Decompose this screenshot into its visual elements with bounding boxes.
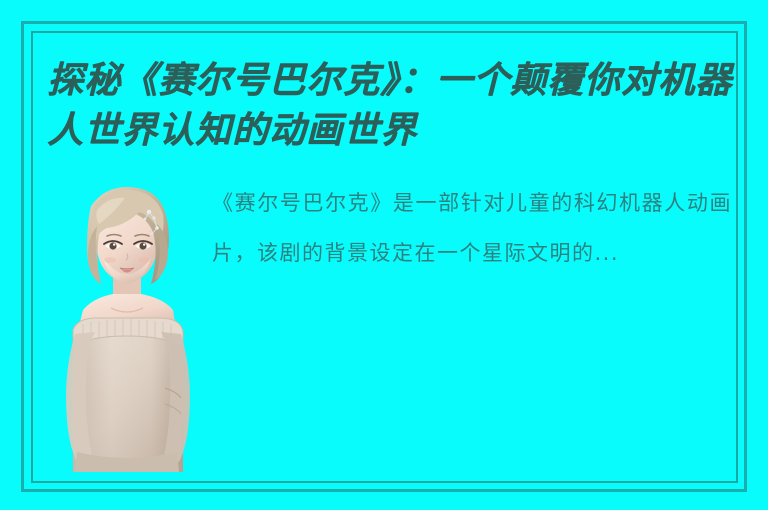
article-summary: 《赛尔号巴尔克》是一部针对儿童的科幻机器人动画片，该剧的背景设定在一个星际文明的… <box>212 178 732 278</box>
anime-girl-icon <box>53 184 201 472</box>
portrait-illustration <box>53 184 201 472</box>
page-title: 探秘《赛尔号巴尔克》：一个颠覆你对机器人世界认知的动画世界 <box>47 55 737 155</box>
article-card: 探秘《赛尔号巴尔克》：一个颠覆你对机器人世界认知的动画世界 <box>0 0 768 510</box>
